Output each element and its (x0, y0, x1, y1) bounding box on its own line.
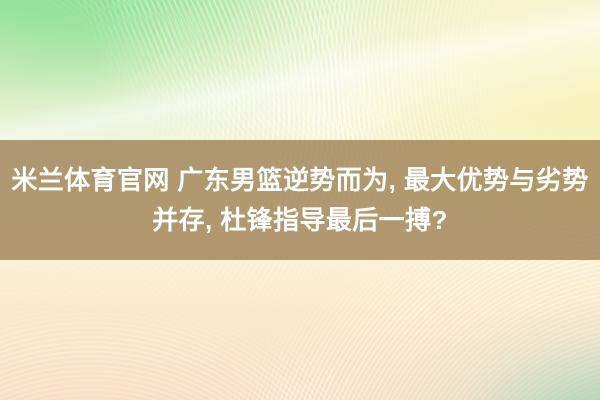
arc-stripes-bottom-left-icon (0, 300, 540, 400)
headline-band: 米兰体育官网 广东男篮逆势而为, 最大优势与劣势 并存, 杜锋指导最后一搏? (0, 140, 600, 260)
headline-line-2: 并存, 杜锋指导最后一搏? (152, 200, 448, 240)
headline-line-1: 米兰体育官网 广东男篮逆势而为, 最大优势与劣势 (11, 160, 588, 200)
promo-banner: 米兰体育官网 广东男篮逆势而为, 最大优势与劣势 并存, 杜锋指导最后一搏? (0, 0, 600, 400)
